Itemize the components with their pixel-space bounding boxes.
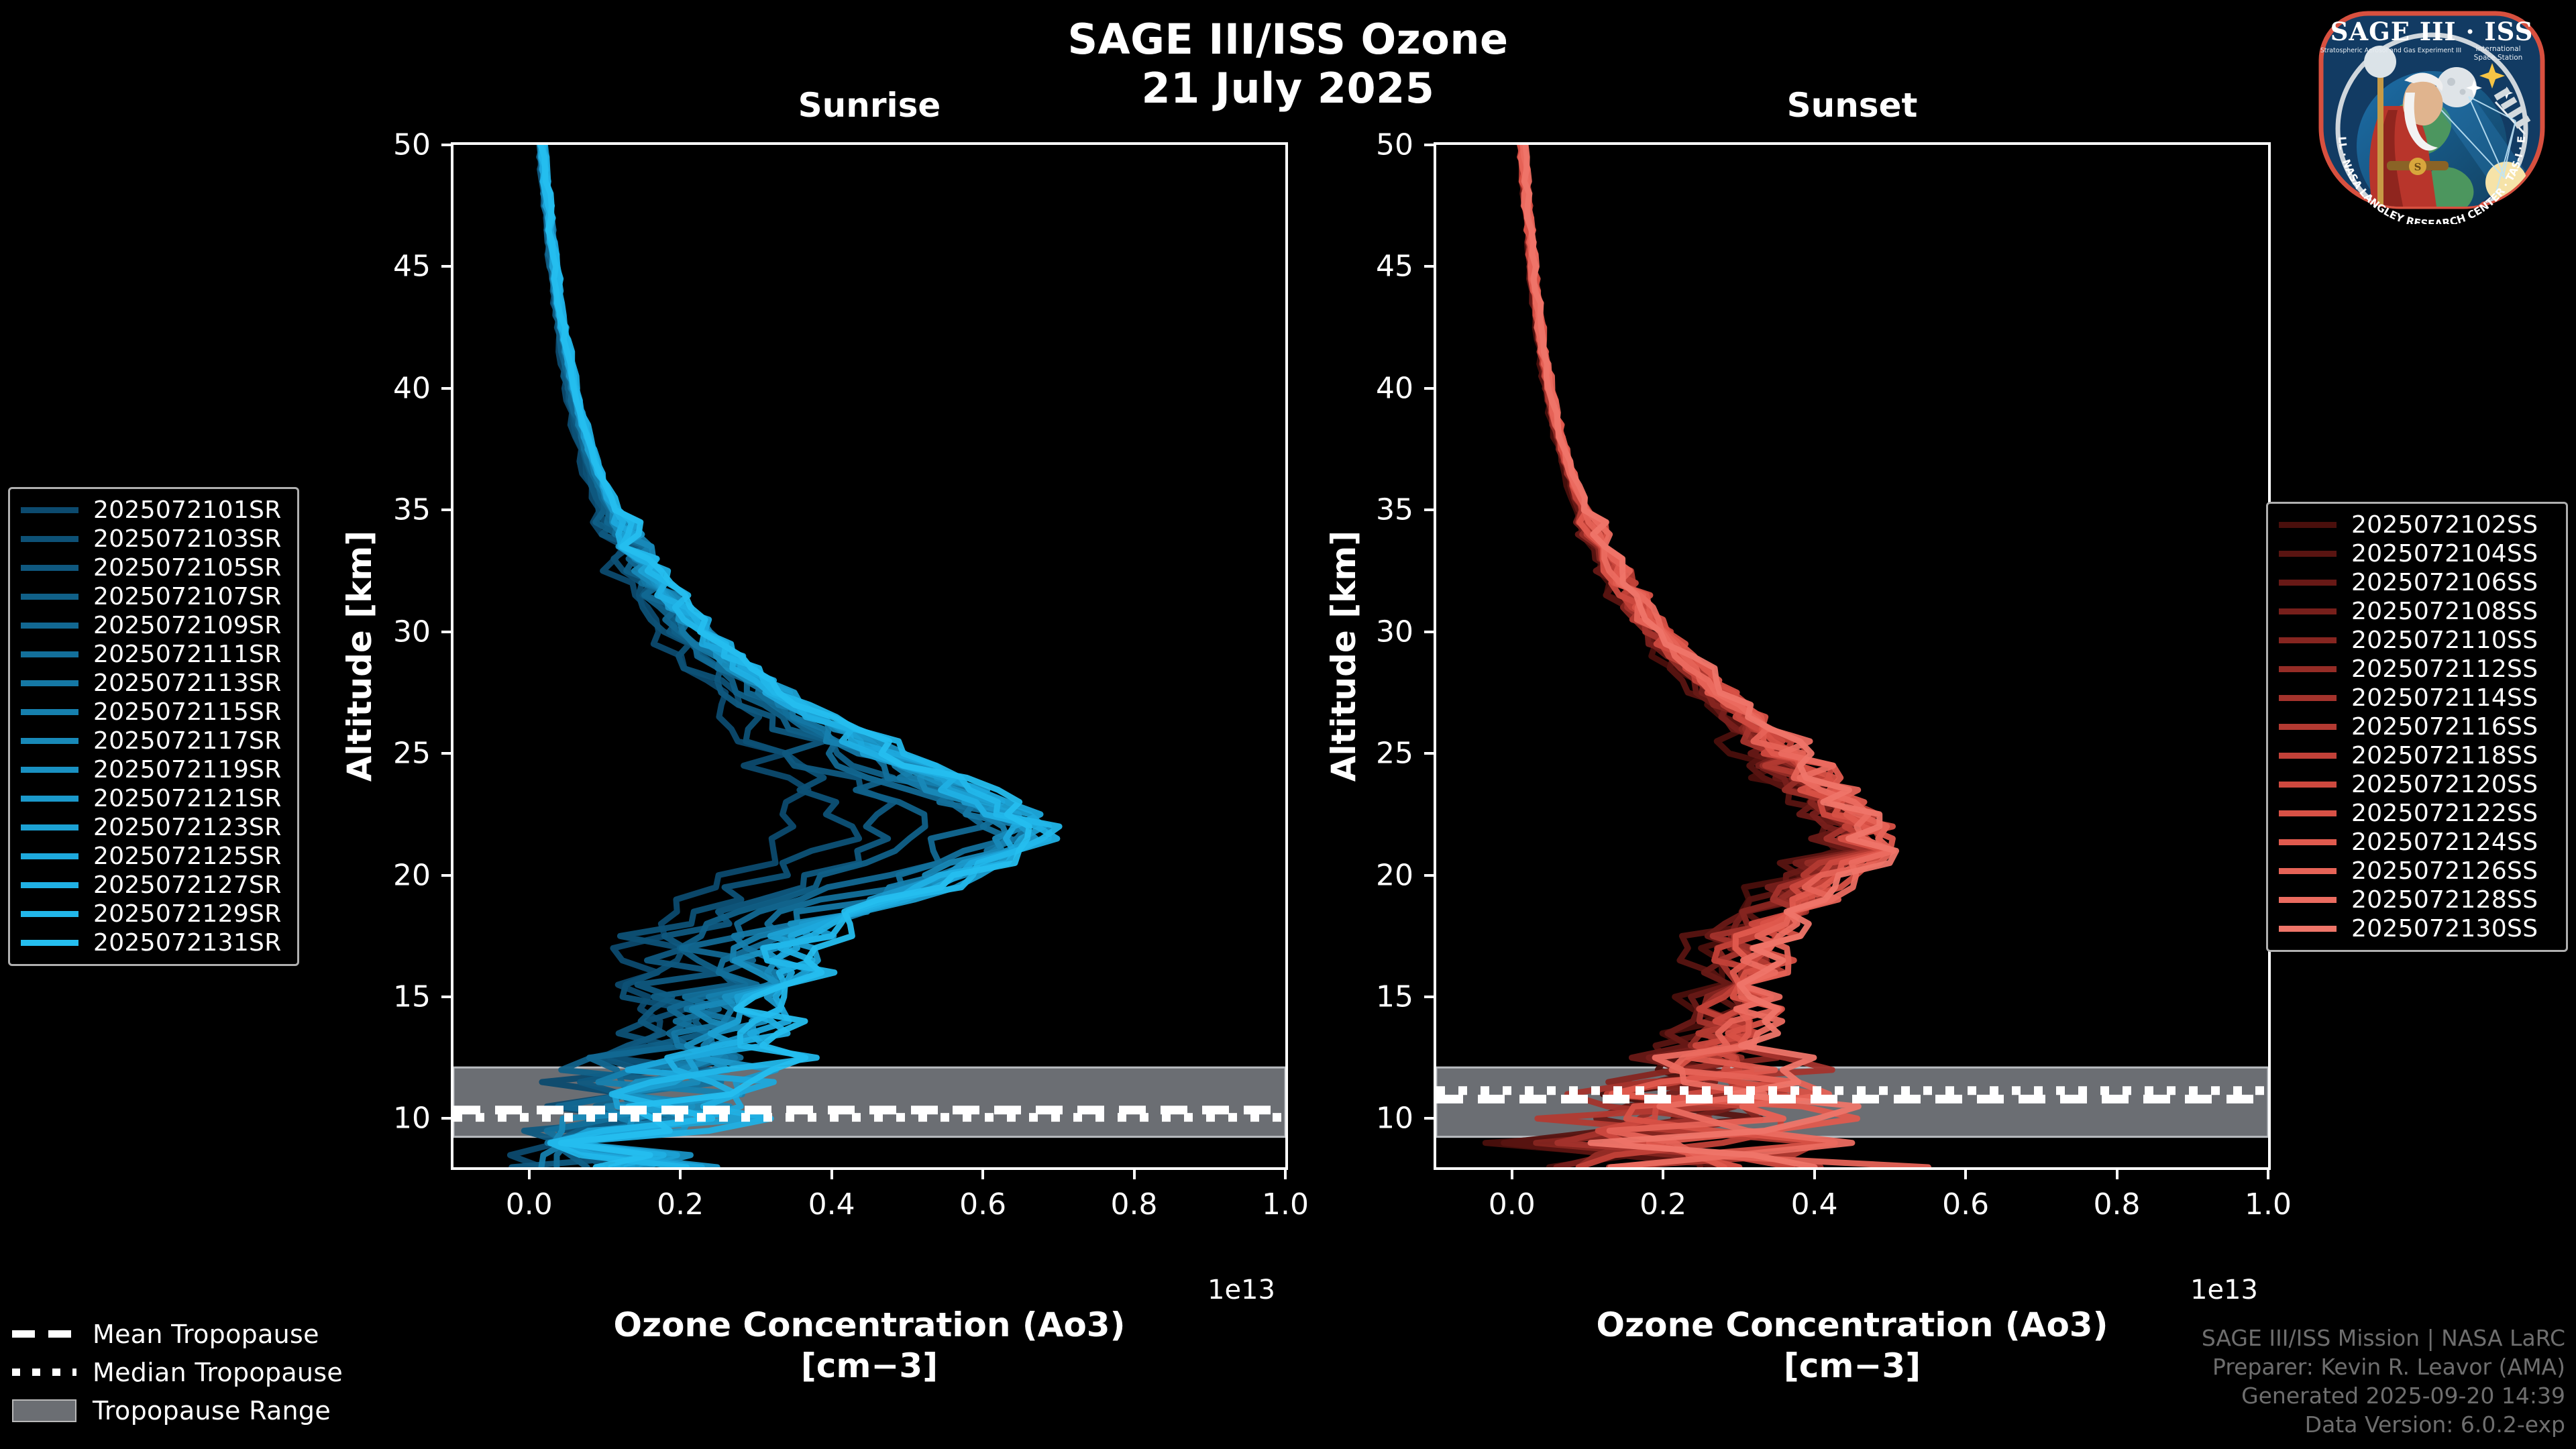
x-tick-label: 0.8 bbox=[2094, 1187, 2141, 1222]
y-tick bbox=[1424, 874, 1434, 877]
legend-color-swatch bbox=[2279, 724, 2337, 730]
legend-color-swatch bbox=[21, 911, 78, 917]
legend-sunrise-item[interactable]: 2025072111SR bbox=[21, 640, 286, 669]
legend-sunset-item[interactable]: 2025072104SS bbox=[2279, 539, 2555, 568]
x-tick-label: 0.6 bbox=[1942, 1187, 1989, 1222]
legend-label: 2025072127SR bbox=[93, 871, 282, 899]
y-tick-label: 15 bbox=[343, 980, 431, 1014]
legend-label: 2025072110SS bbox=[2351, 627, 2538, 654]
x-tick bbox=[2116, 1170, 2118, 1179]
logo-subtitle-right-line2: Space Station bbox=[2474, 54, 2523, 62]
legend-sunset[interactable]: 2025072102SS2025072104SS2025072106SS2025… bbox=[2266, 502, 2568, 952]
legend-color-swatch bbox=[2279, 695, 2337, 701]
legend-color-swatch bbox=[21, 651, 78, 657]
legend-label: 2025072128SS bbox=[2351, 886, 2538, 914]
y-axis-title-sunrise: Altitude [km] bbox=[340, 531, 379, 782]
legend-label: 2025072131SR bbox=[93, 929, 282, 957]
x-tick bbox=[1511, 1170, 1513, 1179]
legend-sunrise[interactable]: 2025072101SR2025072103SR2025072105SR2025… bbox=[8, 487, 299, 966]
legend-color-swatch bbox=[21, 796, 78, 802]
y-tick bbox=[1424, 144, 1434, 146]
y-tick bbox=[441, 631, 451, 633]
legend-label: 2025072107SR bbox=[93, 583, 282, 610]
legend-color-swatch bbox=[21, 594, 78, 600]
legend-color-swatch bbox=[21, 940, 78, 946]
y-tick-label: 35 bbox=[343, 493, 431, 527]
x-tick bbox=[1813, 1170, 1816, 1179]
x-tick-label: 0.2 bbox=[657, 1187, 704, 1222]
legend-color-swatch bbox=[2279, 868, 2337, 874]
legend-color-swatch bbox=[21, 680, 78, 686]
legend-label: 2025072122SS bbox=[2351, 800, 2538, 827]
legend-label: 2025072120SS bbox=[2351, 771, 2538, 798]
legend-color-swatch bbox=[21, 709, 78, 715]
y-tick bbox=[1424, 752, 1434, 755]
legend-dotted-swatch bbox=[12, 1368, 76, 1376]
legend-label: 2025072103SR bbox=[93, 525, 282, 553]
credits-line-4: Data Version: 6.0.2-exp bbox=[2202, 1411, 2565, 1440]
legend-label: 2025072102SS bbox=[2351, 511, 2538, 539]
legend-sunset-item[interactable]: 2025072116SS bbox=[2279, 712, 2555, 741]
legend-label: 2025072109SR bbox=[93, 612, 282, 639]
legend-color-swatch bbox=[2279, 522, 2337, 528]
credits-line-1: SAGE III/ISS Mission | NASA LaRC bbox=[2202, 1324, 2565, 1353]
legend-color-swatch bbox=[2279, 897, 2337, 903]
legend-sunrise-item[interactable]: 2025072121SR bbox=[21, 784, 286, 813]
y-tick bbox=[1424, 1117, 1434, 1120]
y-tick-label: 10 bbox=[1326, 1102, 1413, 1136]
legend-color-swatch bbox=[2279, 551, 2337, 557]
y-tick-label: 15 bbox=[1326, 980, 1413, 1014]
legend-sunrise-item[interactable]: 2025072103SR bbox=[21, 525, 286, 553]
legend-color-swatch bbox=[2279, 637, 2337, 643]
x-axis-title-line1: Ozone Concentration (Ao3) bbox=[451, 1305, 1288, 1346]
x-tick bbox=[1284, 1170, 1287, 1179]
legend-label: 2025072104SS bbox=[2351, 540, 2538, 568]
legend-sunset-item[interactable]: 2025072112SS bbox=[2279, 655, 2555, 684]
x-tick bbox=[1133, 1170, 1136, 1179]
legend-sunset-item[interactable]: 2025072130SS bbox=[2279, 914, 2555, 943]
legend-color-swatch bbox=[21, 824, 78, 830]
credits-line-2: Preparer: Kevin R. Leavor (AMA) bbox=[2202, 1353, 2565, 1382]
svg-text:S: S bbox=[2414, 161, 2422, 173]
logo-title: SAGE III · ISS bbox=[2330, 17, 2534, 46]
x-tick bbox=[528, 1170, 531, 1179]
y-tick bbox=[1424, 387, 1434, 390]
legend-label: 2025072129SR bbox=[93, 900, 282, 928]
legend-patch-swatch bbox=[12, 1399, 76, 1422]
x-tick-label: 0.8 bbox=[1111, 1187, 1158, 1222]
legend-sunset-item[interactable]: 2025072124SS bbox=[2279, 828, 2555, 857]
legend-color-swatch bbox=[21, 565, 78, 571]
y-tick-label: 10 bbox=[343, 1102, 431, 1136]
legend-sunrise-item[interactable]: 2025072109SR bbox=[21, 611, 286, 640]
legend-label: Mean Tropopause bbox=[93, 1320, 319, 1349]
legend-sunset-item[interactable]: 2025072114SS bbox=[2279, 684, 2555, 712]
x-tick-label: 0.0 bbox=[506, 1187, 553, 1222]
y-tick-label: 40 bbox=[343, 371, 431, 405]
legend-label: 2025072112SS bbox=[2351, 655, 2538, 683]
legend-label: 2025072108SS bbox=[2351, 598, 2538, 625]
legend-sunrise-item[interactable]: 2025072129SR bbox=[21, 900, 286, 928]
y-tick bbox=[441, 752, 451, 755]
legend-sunset-item[interactable]: 2025072122SS bbox=[2279, 799, 2555, 828]
y-tick-label: 45 bbox=[343, 250, 431, 284]
legend-color-swatch bbox=[2279, 926, 2337, 932]
legend-sunset-item[interactable]: 2025072126SS bbox=[2279, 857, 2555, 885]
legend-label: 2025072106SS bbox=[2351, 569, 2538, 596]
legend-label: 2025072126SS bbox=[2351, 857, 2538, 885]
legend-sunrise-item[interactable]: 2025072105SR bbox=[21, 553, 286, 582]
legend-label: 2025072101SR bbox=[93, 496, 282, 524]
legend-sunrise-item[interactable]: 2025072125SR bbox=[21, 842, 286, 871]
y-tick bbox=[441, 265, 451, 268]
legend-sunset-item[interactable]: 2025072118SS bbox=[2279, 741, 2555, 770]
y-tick bbox=[1424, 508, 1434, 511]
x-tick-label: 1.0 bbox=[1262, 1187, 1309, 1222]
x-tick bbox=[1964, 1170, 1967, 1179]
legend-label: Tropopause Range bbox=[93, 1396, 331, 1426]
logo-subtitle-left: Stratospheric Aerosol and Gas Experiment… bbox=[2320, 47, 2461, 54]
legend-sunrise-item[interactable]: 2025072123SR bbox=[21, 813, 286, 842]
x-axis-title-line1: Ozone Concentration (Ao3) bbox=[1434, 1305, 2271, 1346]
legend-label: 2025072130SS bbox=[2351, 915, 2538, 943]
x-axis-title-sunset: Ozone Concentration (Ao3) [cm−3] bbox=[1434, 1305, 2271, 1387]
x-axis-offset-sunset: 1e13 bbox=[2190, 1275, 2258, 1305]
x-tick-label: 0.2 bbox=[1640, 1187, 1686, 1222]
legend-sunrise-item[interactable]: 2025072117SR bbox=[21, 727, 286, 755]
legend-color-swatch bbox=[2279, 810, 2337, 816]
legend-label: 2025072116SS bbox=[2351, 713, 2538, 741]
y-tick bbox=[441, 1117, 451, 1120]
legend-color-swatch bbox=[21, 853, 78, 859]
legend-color-swatch bbox=[2279, 839, 2337, 845]
x-tick bbox=[830, 1170, 833, 1179]
y-tick bbox=[1424, 631, 1434, 633]
legend-sunset-item[interactable]: 2025072128SS bbox=[2279, 885, 2555, 914]
legend-dashed-swatch bbox=[12, 1330, 76, 1338]
x-axis-offset-sunrise: 1e13 bbox=[1207, 1275, 1275, 1305]
legend-label: 2025072111SR bbox=[93, 641, 282, 668]
y-tick bbox=[441, 874, 451, 877]
legend-label: 2025072113SR bbox=[93, 669, 282, 697]
legend-label: 2025072118SS bbox=[2351, 742, 2538, 769]
x-tick-label: 0.6 bbox=[959, 1187, 1006, 1222]
legend-color-swatch bbox=[21, 882, 78, 888]
y-tick-label: 50 bbox=[343, 128, 431, 162]
y-tick bbox=[1424, 996, 1434, 998]
legend-sunrise-item[interactable]: 2025072119SR bbox=[21, 755, 286, 784]
legend-label: 2025072125SR bbox=[93, 843, 282, 870]
legend-sunset-item[interactable]: 2025072110SS bbox=[2279, 626, 2555, 655]
legend-sunrise-item[interactable]: 2025072101SR bbox=[21, 496, 286, 525]
credits-line-3: Generated 2025-09-20 14:39 bbox=[2202, 1382, 2565, 1411]
legend-label: 2025072119SR bbox=[93, 756, 282, 784]
credits-block: SAGE III/ISS Mission | NASA LaRC Prepare… bbox=[2202, 1324, 2565, 1440]
legend-tropopause-item[interactable]: Mean Tropopause bbox=[12, 1315, 388, 1353]
legend-label: 2025072121SR bbox=[93, 785, 282, 812]
legend-label: 2025072115SR bbox=[93, 698, 282, 726]
legend-sunrise-item[interactable]: 2025072113SR bbox=[21, 669, 286, 698]
legend-sunset-item[interactable]: 2025072106SS bbox=[2279, 568, 2555, 597]
legend-sunrise-item[interactable]: 2025072131SR bbox=[21, 928, 286, 957]
legend-color-swatch bbox=[2279, 666, 2337, 672]
legend-sunrise-item[interactable]: 2025072115SR bbox=[21, 698, 286, 727]
x-tick bbox=[981, 1170, 984, 1179]
legend-sunset-item[interactable]: 2025072108SS bbox=[2279, 597, 2555, 626]
x-tick-label: 0.0 bbox=[1489, 1187, 1536, 1222]
x-tick-label: 0.4 bbox=[1791, 1187, 1838, 1222]
y-tick-label: 45 bbox=[1326, 250, 1413, 284]
legend-tropopause-item[interactable]: Median Tropopause bbox=[12, 1353, 388, 1391]
x-tick bbox=[2267, 1170, 2269, 1179]
legend-label: 2025072117SR bbox=[93, 727, 282, 755]
legend-color-swatch bbox=[2279, 753, 2337, 759]
legend-color-swatch bbox=[2279, 580, 2337, 586]
y-tick bbox=[1424, 265, 1434, 268]
legend-sunrise-item[interactable]: 2025072127SR bbox=[21, 871, 286, 900]
legend-sunset-item[interactable]: 2025072102SS bbox=[2279, 511, 2555, 539]
y-tick bbox=[441, 996, 451, 998]
legend-sunrise-item[interactable]: 2025072107SR bbox=[21, 582, 286, 611]
legend-label: Median Tropopause bbox=[93, 1358, 343, 1387]
y-tick-label: 40 bbox=[1326, 371, 1413, 405]
legend-label: 2025072124SS bbox=[2351, 828, 2538, 856]
y-tick bbox=[441, 508, 451, 511]
y-tick bbox=[441, 387, 451, 390]
x-tick bbox=[1662, 1170, 1664, 1179]
legend-sunset-item[interactable]: 2025072120SS bbox=[2279, 770, 2555, 799]
legend-color-swatch bbox=[21, 536, 78, 542]
legend-label: 2025072123SR bbox=[93, 814, 282, 841]
legend-tropopause[interactable]: Mean TropopauseMedian TropopauseTropopau… bbox=[12, 1315, 388, 1430]
x-tick-label: 1.0 bbox=[2245, 1187, 2292, 1222]
axis-ticks-layer: 1015202530354045500.00.20.40.60.81.01015… bbox=[0, 0, 2576, 1449]
y-tick-label: 50 bbox=[1326, 128, 1413, 162]
x-axis-title-line2: [cm−3] bbox=[1434, 1346, 2271, 1387]
y-tick-label: 20 bbox=[343, 858, 431, 892]
x-tick bbox=[679, 1170, 682, 1179]
logo-subtitle-right-line1: International bbox=[2475, 45, 2520, 53]
y-tick-label: 35 bbox=[1326, 493, 1413, 527]
legend-color-swatch bbox=[21, 738, 78, 744]
legend-tropopause-item[interactable]: Tropopause Range bbox=[12, 1391, 388, 1430]
sage-iii-iss-mission-logo: S SAGE III · ISS Stratospheric Aerosol a… bbox=[2304, 3, 2560, 224]
x-axis-title-sunrise: Ozone Concentration (Ao3) [cm−3] bbox=[451, 1305, 1288, 1387]
y-axis-title-sunset: Altitude [km] bbox=[1324, 531, 1363, 782]
y-tick bbox=[441, 144, 451, 146]
legend-color-swatch bbox=[2279, 608, 2337, 614]
legend-color-swatch bbox=[21, 767, 78, 773]
legend-color-swatch bbox=[21, 507, 78, 513]
y-tick-label: 20 bbox=[1326, 858, 1413, 892]
legend-label: 2025072114SS bbox=[2351, 684, 2538, 712]
legend-color-swatch bbox=[2279, 782, 2337, 788]
legend-color-swatch bbox=[21, 623, 78, 629]
legend-label: 2025072105SR bbox=[93, 554, 282, 582]
x-axis-title-line2: [cm−3] bbox=[451, 1346, 1288, 1387]
x-tick-label: 0.4 bbox=[808, 1187, 855, 1222]
